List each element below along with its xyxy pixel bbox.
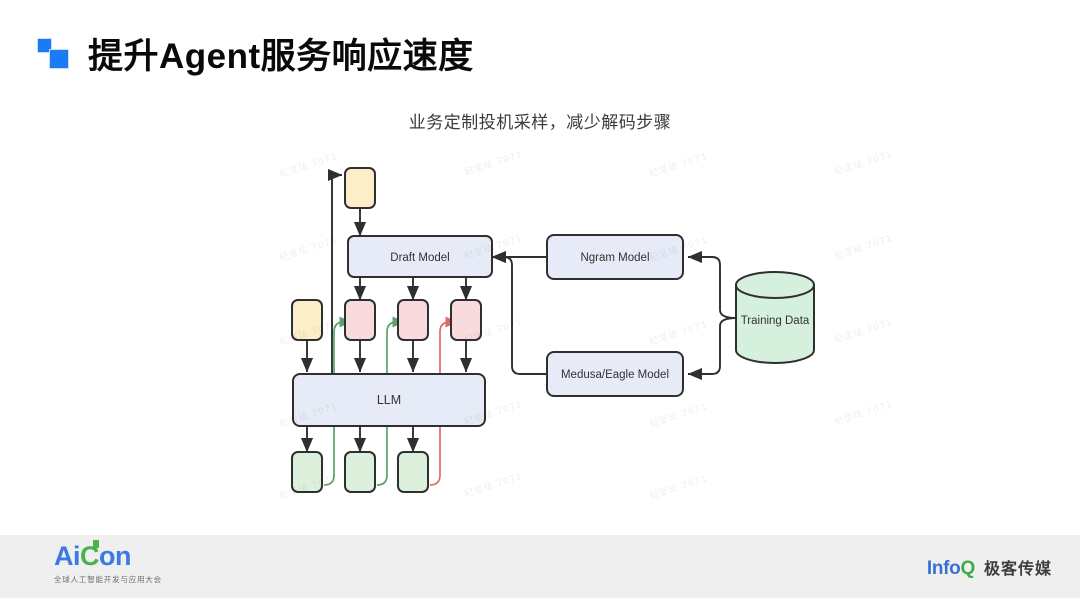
draft-token-3[interactable] <box>451 300 481 340</box>
out-token-3[interactable] <box>398 452 428 492</box>
aicon-logo-on: on <box>99 541 131 571</box>
slide-header: 提升Agent服务响应速度 <box>38 28 474 79</box>
speculative-decoding-diagram: 杞坚珐 7071 杞坚珐 7071 杞坚珐 7071 杞坚珐 7071 杞坚珐 … <box>0 150 1080 520</box>
infoq-info: Info <box>927 558 961 579</box>
draft-token-1[interactable] <box>345 300 375 340</box>
square-large <box>50 50 68 68</box>
training-data-label: Training Data <box>741 315 810 327</box>
draft-model-label: Draft Model <box>390 252 449 264</box>
slide-root: 提升Agent服务响应速度 业务定制投机采样，减少解码步骤 杞坚珐 7071 杞… <box>0 0 1080 598</box>
infoq-q: Q <box>961 558 975 579</box>
aicon-logo-block: AiCon 全球人工智能开发与应用大会 <box>54 543 162 585</box>
diagram-canvas: Draft Model LLM Ngram Model Medusa/Eagle… <box>0 150 1080 520</box>
aicon-dot-icon <box>93 540 99 548</box>
out-token-2[interactable] <box>345 452 375 492</box>
token-left[interactable] <box>292 300 322 340</box>
infoq-logo-block: InfoQ 极客传媒 <box>927 555 1052 580</box>
slide-footer: AiCon 全球人工智能开发与应用大会 InfoQ 极客传媒 <box>0 535 1080 598</box>
infoq-logo: InfoQ <box>927 558 975 580</box>
geek-media-label: 极客传媒 <box>984 555 1052 579</box>
aicon-logo: AiCon <box>54 543 162 570</box>
out-token-1[interactable] <box>292 452 322 492</box>
draft-token-2[interactable] <box>398 300 428 340</box>
slide-subtitle: 业务定制投机采样，减少解码步骤 <box>0 108 1080 133</box>
ngram-model-label: Ngram Model <box>580 252 649 264</box>
two-squares-icon <box>38 37 72 71</box>
medusa-model-label: Medusa/Eagle Model <box>561 369 669 381</box>
aicon-tagline: 全球人工智能开发与应用大会 <box>54 574 162 585</box>
token-top[interactable] <box>345 168 375 208</box>
aicon-logo-a: A <box>54 541 73 571</box>
page-title: 提升Agent服务响应速度 <box>88 28 474 79</box>
aicon-logo-i: i <box>73 541 80 571</box>
llm-label: LLM <box>377 393 401 407</box>
